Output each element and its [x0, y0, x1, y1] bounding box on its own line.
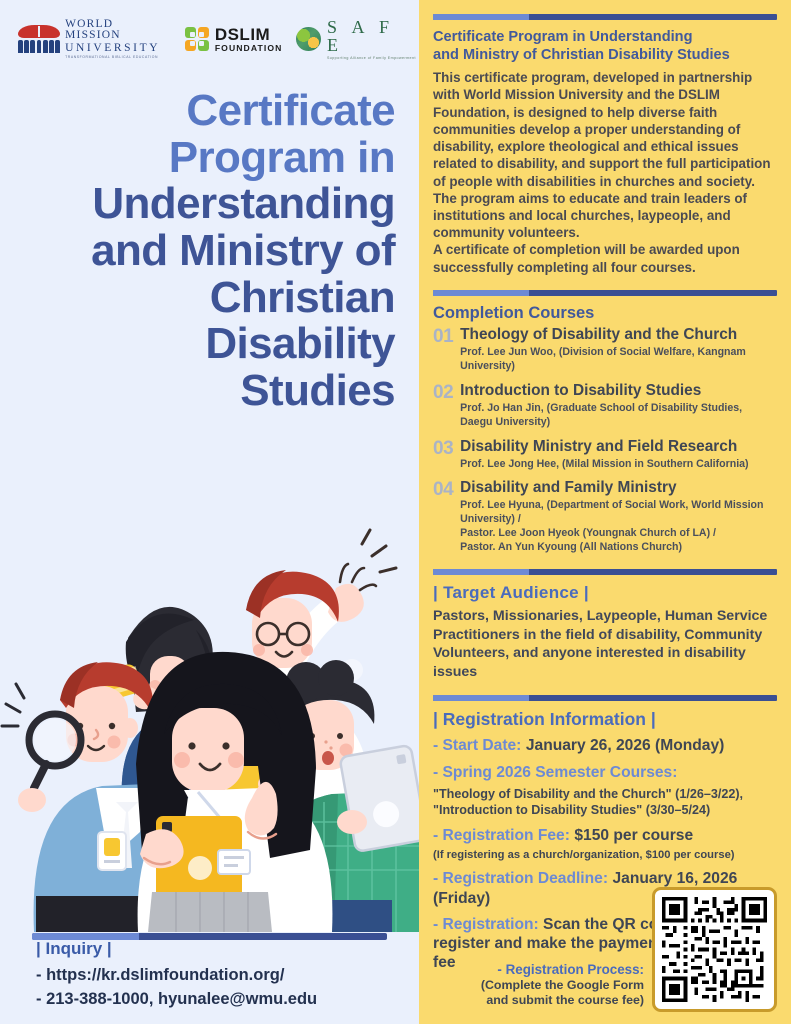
- title-line-4: and Ministry of: [91, 226, 395, 275]
- wmu-logo: WORLD MISSION UNIVERSITY TRANSFORMATIONA…: [18, 19, 171, 60]
- qr-code[interactable]: [652, 887, 777, 1012]
- deadline-label: - Registration Deadline:: [433, 870, 608, 887]
- fee-note: (If registering as a church/organization…: [433, 848, 777, 862]
- course-item: 03 Disability Ministry and Field Researc…: [433, 439, 777, 472]
- dslim-line1: DSLIM: [215, 26, 283, 43]
- wmu-line1: WORLD MISSION: [65, 19, 171, 42]
- semester-label: - Spring 2026 Semester Courses:: [433, 764, 677, 781]
- semester-line: - Spring 2026 Semester Courses:: [433, 763, 777, 783]
- book-steps-icon: [18, 25, 59, 53]
- qr-block: - Registration Process: (Complete the Go…: [481, 887, 777, 1012]
- course-instructor: Prof. Jo Han Jin, (Graduate School of Di…: [460, 402, 777, 430]
- dslim-logo: DSLIM FOUNDATION: [185, 26, 283, 53]
- start-date-value: January 26, 2026 (Monday): [526, 737, 724, 754]
- page-title: Certificate Program in Understanding and…: [20, 88, 395, 414]
- course-number: 01: [433, 327, 453, 374]
- inquiry-contact[interactable]: - 213-388-1000, hyunalee@wmu.edu: [36, 988, 406, 1012]
- intro-paragraph-2: A certificate of completion will be awar…: [433, 241, 777, 275]
- course-instructor: Prof. Lee Hyuna, (Department of Social W…: [460, 499, 777, 555]
- intro-heading-line1: Certificate Program in Understanding: [433, 29, 693, 45]
- wmu-tagline: TRANSFORMATIONAL BIBLICAL EDUCATION: [65, 56, 171, 59]
- semester-courses: "Theology of Disability and the Church" …: [433, 786, 777, 819]
- title-line-2: Program in: [169, 133, 395, 182]
- course-number: 04: [433, 480, 453, 555]
- target-audience-title: | Target Audience |: [433, 583, 777, 603]
- course-instructor: Prof. Lee Jun Woo, (Division of Social W…: [460, 346, 777, 374]
- intro-heading-line2: and Ministry of Christian Disability Stu…: [433, 47, 730, 63]
- target-audience-body: Pastors, Missionaries, Laypeople, Human …: [433, 607, 777, 681]
- fee-label: - Registration Fee:: [433, 827, 570, 844]
- inquiry-title: | Inquiry |: [36, 939, 406, 959]
- poster: WORLD MISSION UNIVERSITY TRANSFORMATIONA…: [0, 0, 791, 1024]
- safe-logo: S A F E Supporting Alliance of Family Em…: [296, 18, 419, 61]
- start-date-line: - Start Date: January 26, 2026 (Monday): [433, 736, 777, 756]
- divider-target-audience: [433, 569, 777, 575]
- title-line-5: Christian: [210, 273, 395, 322]
- dslim-line2: FOUNDATION: [215, 44, 283, 53]
- inquiry-block: | Inquiry | - https://kr.dslimfoundation…: [36, 939, 406, 1012]
- wmu-line2: UNIVERSITY: [65, 43, 171, 55]
- fee-line: - Registration Fee: $150 per course: [433, 826, 777, 846]
- divider-top: [433, 14, 777, 20]
- dslim-squares-icon: [185, 27, 209, 51]
- course-instructor: Prof. Lee Jong Hee, (Milal Mission in So…: [460, 458, 777, 472]
- intro-paragraph: This certificate program, developed in p…: [433, 69, 777, 241]
- course-item: 02 Introduction to Disability Studies Pr…: [433, 383, 777, 430]
- group-illustration: [0, 502, 419, 932]
- inquiry-website[interactable]: - https://kr.dslimfoundation.org/: [36, 964, 406, 988]
- fee-value: $150 per course: [574, 827, 693, 844]
- logo-row: WORLD MISSION UNIVERSITY TRANSFORMATIONA…: [18, 18, 419, 61]
- safe-tagline: Supporting Alliance of Family Empowermen…: [327, 57, 419, 61]
- start-date-label: - Start Date:: [433, 737, 521, 754]
- registration-title: | Registration Information |: [433, 709, 777, 730]
- title-line-6: Disability: [205, 319, 395, 368]
- course-name: Disability and Family Ministry: [460, 480, 777, 497]
- right-panel: Certificate Program in Understanding and…: [419, 0, 791, 1024]
- course-name: Theology of Disability and the Church: [460, 327, 777, 344]
- title-line-7: Studies: [240, 366, 395, 415]
- courses-section-title: Completion Courses: [433, 304, 777, 323]
- course-number: 03: [433, 439, 453, 472]
- course-number: 02: [433, 383, 453, 430]
- process-note: (Complete the Google Form and submit the…: [481, 978, 644, 1008]
- divider-registration: [433, 695, 777, 701]
- left-panel: WORLD MISSION UNIVERSITY TRANSFORMATIONA…: [0, 0, 419, 1024]
- course-name: Disability Ministry and Field Research: [460, 439, 777, 456]
- course-item: 04 Disability and Family Ministry Prof. …: [433, 480, 777, 555]
- course-item: 01 Theology of Disability and the Church…: [433, 327, 777, 374]
- intro-heading: Certificate Program in Understanding and…: [433, 28, 777, 64]
- course-name: Introduction to Disability Studies: [460, 383, 777, 400]
- globe-icon: [296, 27, 320, 51]
- title-line-1: Certificate: [186, 86, 395, 135]
- divider-courses: [433, 290, 777, 296]
- title-line-3: Understanding: [92, 179, 395, 228]
- process-label: - Registration Process:: [481, 962, 644, 979]
- safe-line1: S A F E: [327, 18, 419, 54]
